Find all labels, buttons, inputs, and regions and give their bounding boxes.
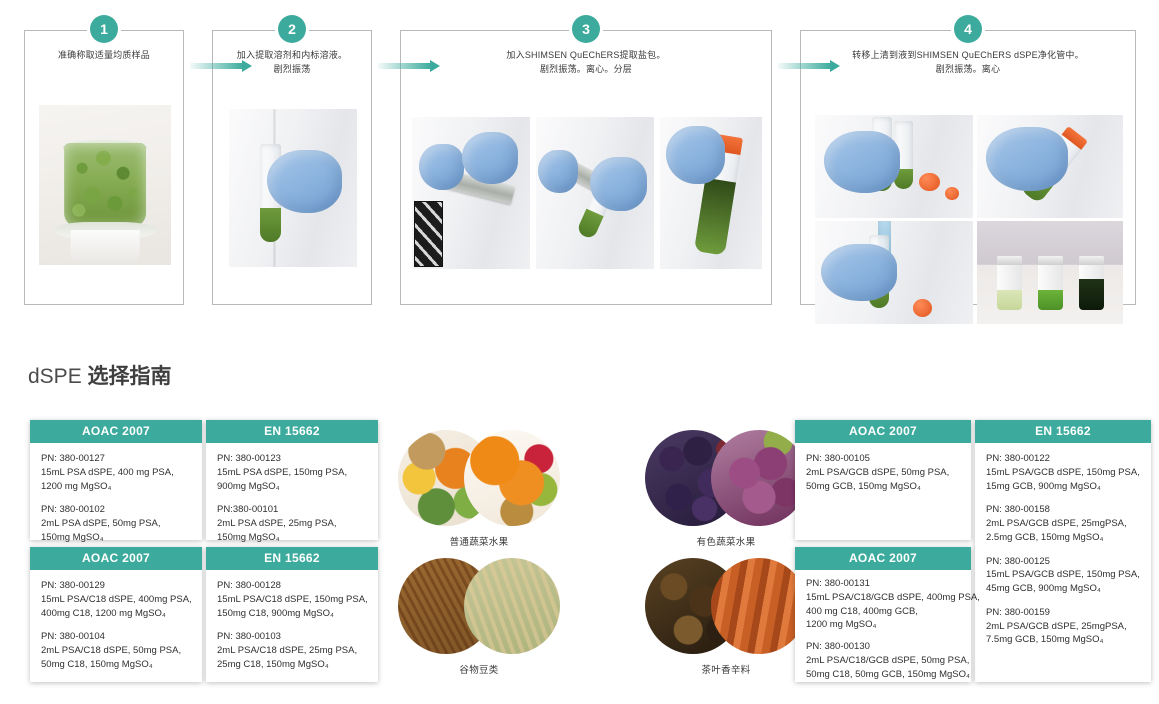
entry-line: PN: 380-00122 xyxy=(986,452,1141,466)
food-category-common-produce: 普通蔬菜水果 xyxy=(398,430,560,548)
card-body: PN: 380-00105 2mL PSA/GCB dSPE, 50mg PSA… xyxy=(795,443,971,503)
product-entry: PN: 380-00131 15mL PSA/C18/GCB dSPE, 400… xyxy=(806,577,961,632)
step-4-photo-capped-tube xyxy=(977,115,1123,218)
product-entry: PN:380-00101 2mL PSA dSPE, 25mg PSA, 150… xyxy=(217,503,368,544)
arrow-head xyxy=(430,60,440,72)
entry-line: PN: 380-00123 xyxy=(217,452,368,466)
entry-line: PN: 380-00105 xyxy=(806,452,961,466)
step-4-photo-vials xyxy=(977,221,1123,324)
entry-line: PN: 380-00104 xyxy=(41,630,192,644)
entry-line: PN: 380-00125 xyxy=(986,555,1141,569)
food-category-label: 谷物豆类 xyxy=(398,662,560,676)
product-entry: PN: 380-00127 15mL PSA dSPE, 400 mg PSA,… xyxy=(41,452,192,493)
arrow-step-3-to-4 xyxy=(778,60,840,72)
page-title-bold: 选择指南 xyxy=(88,365,172,388)
entry-line: PN: 380-00102 xyxy=(41,503,192,517)
entry-line: 150mg C18, 900mg MgSO₄ xyxy=(217,607,368,621)
vial-cap xyxy=(1038,256,1063,265)
product-entry: PN: 380-00102 2mL PSA dSPE, 50mg PSA, 15… xyxy=(41,503,192,544)
product-entry: PN: 380-00104 2mL PSA/C18 dSPE, 50mg PSA… xyxy=(41,630,192,671)
entry-line: 150mg MgSO₄ xyxy=(41,531,192,545)
product-entry: PN: 380-00130 2mL PSA/C18/GCB dSPE, 50mg… xyxy=(806,640,961,681)
arrow-shaft xyxy=(778,63,831,69)
step-caption-3: 加入SHIMSEN QuEChERS提取盐包。 剧烈振荡。离心。分层 xyxy=(401,49,771,77)
entry-line: 1200 mg MgSO₄ xyxy=(806,618,961,632)
food-category-colored-produce: 有色蔬菜水果 xyxy=(645,430,807,548)
step-badge-2: 2 xyxy=(278,15,306,43)
card-header: AOAC 2007 xyxy=(795,547,971,570)
page-root: 1 准确称取适量均质样品 2 加入提取 xyxy=(0,0,1159,704)
entry-line: 400 mg C18, 400mg GCB, xyxy=(806,605,961,619)
entry-line: PN: 380-00130 xyxy=(806,640,961,654)
card-header: EN 15662 xyxy=(206,547,378,570)
tube-liquid xyxy=(260,208,282,241)
card-right-aoac-psa-c18-gcb: AOAC 2007 PN: 380-00131 15mL PSA/C18/GCB… xyxy=(795,547,971,682)
card-body: PN: 380-00131 15mL PSA/C18/GCB dSPE, 400… xyxy=(795,570,971,691)
entry-line: PN:380-00101 xyxy=(217,503,368,517)
entry-line: PN: 380-00159 xyxy=(986,606,1141,620)
card-left-en-psa-c18: EN 15662 PN: 380-00128 15mL PSA/C18 dSPE… xyxy=(206,547,378,682)
card-left-aoac-psa-c18: AOAC 2007 PN: 380-00129 15mL PSA/C18 dSP… xyxy=(30,547,202,682)
card-right-aoac-psa-gcb: AOAC 2007 PN: 380-00105 2mL PSA/GCB dSPE… xyxy=(795,420,971,540)
vial-dark xyxy=(1079,256,1104,310)
arrow-head xyxy=(242,60,252,72)
product-entry: PN: 380-00123 15mL PSA dSPE, 150mg PSA, … xyxy=(217,452,368,493)
step-badge-4: 4 xyxy=(954,15,982,43)
entry-line: 45mg GCB, 900mg MgSO₄ xyxy=(986,582,1141,596)
entry-line: 15mL PSA/GCB dSPE, 150mg PSA, xyxy=(986,568,1141,582)
arrow-step-1-to-2 xyxy=(190,60,252,72)
step-badge-3: 3 xyxy=(572,15,600,43)
entry-line: PN: 380-00131 xyxy=(806,577,961,591)
gloved-hand-right xyxy=(590,157,647,212)
orange-cap xyxy=(919,173,940,192)
card-body: PN: 380-00122 15mL PSA/GCB dSPE, 150mg P… xyxy=(975,443,1151,657)
food-category-label: 有色蔬菜水果 xyxy=(645,534,807,548)
vial-liquid xyxy=(997,290,1022,309)
entry-line: 15mL PSA dSPE, 400 mg PSA, xyxy=(41,466,192,480)
jar-stand xyxy=(71,230,140,262)
food-images xyxy=(398,558,560,656)
step-caption-line: 剧烈振荡。离心。分层 xyxy=(409,63,763,77)
entry-line: 25mg C18, 150mg MgSO₄ xyxy=(217,658,368,672)
gloved-hand-left xyxy=(538,150,578,193)
entry-line: PN: 380-00103 xyxy=(217,630,368,644)
step-badge-1: 1 xyxy=(90,15,118,43)
food-category-tea-spices: 茶叶香辛料 xyxy=(645,558,807,676)
food-category-label: 普通蔬菜水果 xyxy=(398,534,560,548)
step-4-photo-transfer-b xyxy=(815,221,973,324)
vial-green xyxy=(1038,256,1063,310)
gloved-hand xyxy=(821,244,897,302)
entry-line: 2.5mg GCB, 150mg MgSO₄ xyxy=(986,531,1141,545)
product-entry: PN: 380-00103 2mL PSA/C18 dSPE, 25mg PSA… xyxy=(217,630,368,671)
product-entry: PN: 380-00122 15mL PSA/GCB dSPE, 150mg P… xyxy=(986,452,1141,493)
entry-line: 50mg C18, 150mg MgSO₄ xyxy=(41,658,192,672)
entry-line: 2mL PSA/C18/GCB dSPE, 50mg PSA, xyxy=(806,654,961,668)
gloved-hand xyxy=(824,131,900,193)
card-header: EN 15662 xyxy=(975,420,1151,443)
food-images xyxy=(645,558,807,656)
step-2-photo-solvent-addition xyxy=(229,109,357,267)
gloved-hand-left xyxy=(419,144,464,190)
card-header: EN 15662 xyxy=(206,420,378,443)
vial-cap xyxy=(1079,256,1104,265)
entry-line: 2mL PSA/GCB dSPE, 25mgPSA, xyxy=(986,620,1141,634)
step-caption-line: 准确称取适量均质样品 xyxy=(33,49,175,63)
food-photo-fruits xyxy=(464,430,560,526)
step-caption-line: 剧烈振荡。离心 xyxy=(809,63,1127,77)
entry-line: 15mg GCB, 900mg MgSO₄ xyxy=(986,480,1141,494)
gloved-hand xyxy=(267,150,341,213)
food-photo-spices xyxy=(711,558,807,654)
entry-line: 2mL PSA/GCB dSPE, 25mgPSA, xyxy=(986,517,1141,531)
entry-line: PN: 380-00158 xyxy=(986,503,1141,517)
workflow-section: 1 准确称取适量均质样品 2 加入提取 xyxy=(0,0,1159,330)
product-entry: PN: 380-00128 15mL PSA/C18 dSPE, 150mg P… xyxy=(217,579,368,620)
product-entry: PN: 380-00125 15mL PSA/GCB dSPE, 150mg P… xyxy=(986,555,1141,596)
product-entry: PN: 380-00129 15mL PSA/C18 dSPE, 400mg P… xyxy=(41,579,192,620)
arrow-step-2-to-3 xyxy=(378,60,440,72)
food-images xyxy=(645,430,807,528)
jar-homogenized-sample xyxy=(64,143,146,226)
grater-block xyxy=(414,201,442,268)
vial-cap xyxy=(997,256,1022,265)
food-images xyxy=(398,430,560,528)
entry-line: 2mL PSA dSPE, 50mg PSA, xyxy=(41,517,192,531)
step-caption-1: 准确称取适量均质样品 xyxy=(25,49,183,63)
step-4-photo-transfer-a xyxy=(815,115,973,218)
card-left-aoac-psa: AOAC 2007 PN: 380-00127 15mL PSA dSPE, 4… xyxy=(30,420,202,540)
vial-light xyxy=(997,256,1022,310)
card-right-en-psa-gcb: EN 15662 PN: 380-00122 15mL PSA/GCB dSPE… xyxy=(975,420,1151,682)
card-left-en-psa: EN 15662 PN: 380-00123 15mL PSA dSPE, 15… xyxy=(206,420,378,540)
card-header: AOAC 2007 xyxy=(795,420,971,443)
step-3-photo-extracted-tube xyxy=(660,117,762,269)
gloved-hand xyxy=(666,126,725,184)
product-entry: PN: 380-00159 2mL PSA/GCB dSPE, 25mgPSA,… xyxy=(986,606,1141,647)
entry-line: PN: 380-00127 xyxy=(41,452,192,466)
entry-line: 7.5mg GCB, 150mg MgSO₄ xyxy=(986,633,1141,647)
page-title: dSPE 选择指南 xyxy=(28,360,172,390)
arrow-shaft xyxy=(190,63,243,69)
entry-line: PN: 380-00128 xyxy=(217,579,368,593)
product-entry: PN: 380-00158 2mL PSA/GCB dSPE, 25mgPSA,… xyxy=(986,503,1141,544)
entry-line: 50mg GCB, 150mg MgSO₄ xyxy=(806,480,961,494)
orange-cap xyxy=(913,299,932,317)
food-category-label: 茶叶香辛料 xyxy=(645,662,807,676)
entry-line: 900mg MgSO₄ xyxy=(217,480,368,494)
food-photo-grapes xyxy=(711,430,807,526)
entry-line: 2mL PSA/C18 dSPE, 25mg PSA, xyxy=(217,644,368,658)
entry-line: 50mg C18, 50mg GCB, 150mg MgSO₄ xyxy=(806,668,961,682)
gloved-hand-right xyxy=(462,132,519,184)
entry-line: 400mg C18, 1200 mg MgSO₄ xyxy=(41,607,192,621)
arrow-shaft xyxy=(378,63,431,69)
card-header: AOAC 2007 xyxy=(30,420,202,443)
step-caption-line: 转移上清到液到SHIMSEN QuEChERS dSPE净化管中。 xyxy=(809,49,1127,63)
workflow-step-4: 4 转移上清到液到SHIMSEN QuEChERS dSPE净化管中。 剧烈振荡… xyxy=(800,30,1136,305)
entry-line: 15mL PSA/C18 dSPE, 150mg PSA, xyxy=(217,593,368,607)
entry-line: PN: 380-00129 xyxy=(41,579,192,593)
vial-liquid xyxy=(1079,279,1104,310)
step-3-photo-salt-pour xyxy=(536,117,654,269)
step-caption-line: 加入SHIMSEN QuEChERS提取盐包。 xyxy=(409,49,763,63)
gloved-hand xyxy=(986,127,1068,191)
product-entry: PN: 380-00105 2mL PSA/GCB dSPE, 50mg PSA… xyxy=(806,452,961,493)
entry-line: 150mg MgSO₄ xyxy=(217,531,368,545)
arrow-head xyxy=(830,60,840,72)
card-body: PN: 380-00128 15mL PSA/C18 dSPE, 150mg P… xyxy=(206,570,378,682)
workflow-step-1: 1 准确称取适量均质样品 xyxy=(24,30,184,305)
page-title-light: dSPE xyxy=(28,365,82,388)
entry-line: 2mL PSA/C18 dSPE, 50mg PSA, xyxy=(41,644,192,658)
step-3-photo-salt-pack-open xyxy=(412,117,530,269)
entry-line: 15mL PSA/C18 dSPE, 400mg PSA, xyxy=(41,593,192,607)
step-1-photo-sample-jar xyxy=(39,105,171,265)
card-header: AOAC 2007 xyxy=(30,547,202,570)
workflow-step-3: 3 加入SHIMSEN QuEChERS提取盐包。 剧烈振荡。离心。分层 xyxy=(400,30,772,305)
card-body: PN: 380-00127 15mL PSA dSPE, 400 mg PSA,… xyxy=(30,443,202,555)
step-caption-4: 转移上清到液到SHIMSEN QuEChERS dSPE净化管中。 剧烈振荡。离… xyxy=(801,49,1135,77)
card-body: PN: 380-00123 15mL PSA dSPE, 150mg PSA, … xyxy=(206,443,378,555)
food-photo-wheat xyxy=(464,558,560,654)
food-category-grains-beans: 谷物豆类 xyxy=(398,558,560,676)
entry-line: 2mL PSA/GCB dSPE, 50mg PSA, xyxy=(806,466,961,480)
entry-line: 2mL PSA dSPE, 25mg PSA, xyxy=(217,517,368,531)
card-body: PN: 380-00129 15mL PSA/C18 dSPE, 400mg P… xyxy=(30,570,202,682)
entry-line: 1200 mg MgSO₄ xyxy=(41,480,192,494)
vial-liquid xyxy=(1038,290,1063,309)
entry-line: 15mL PSA dSPE, 150mg PSA, xyxy=(217,466,368,480)
entry-line: 15mL PSA/C18/GCB dSPE, 400mg PSA, xyxy=(806,591,961,605)
entry-line: 15mL PSA/GCB dSPE, 150mg PSA, xyxy=(986,466,1141,480)
